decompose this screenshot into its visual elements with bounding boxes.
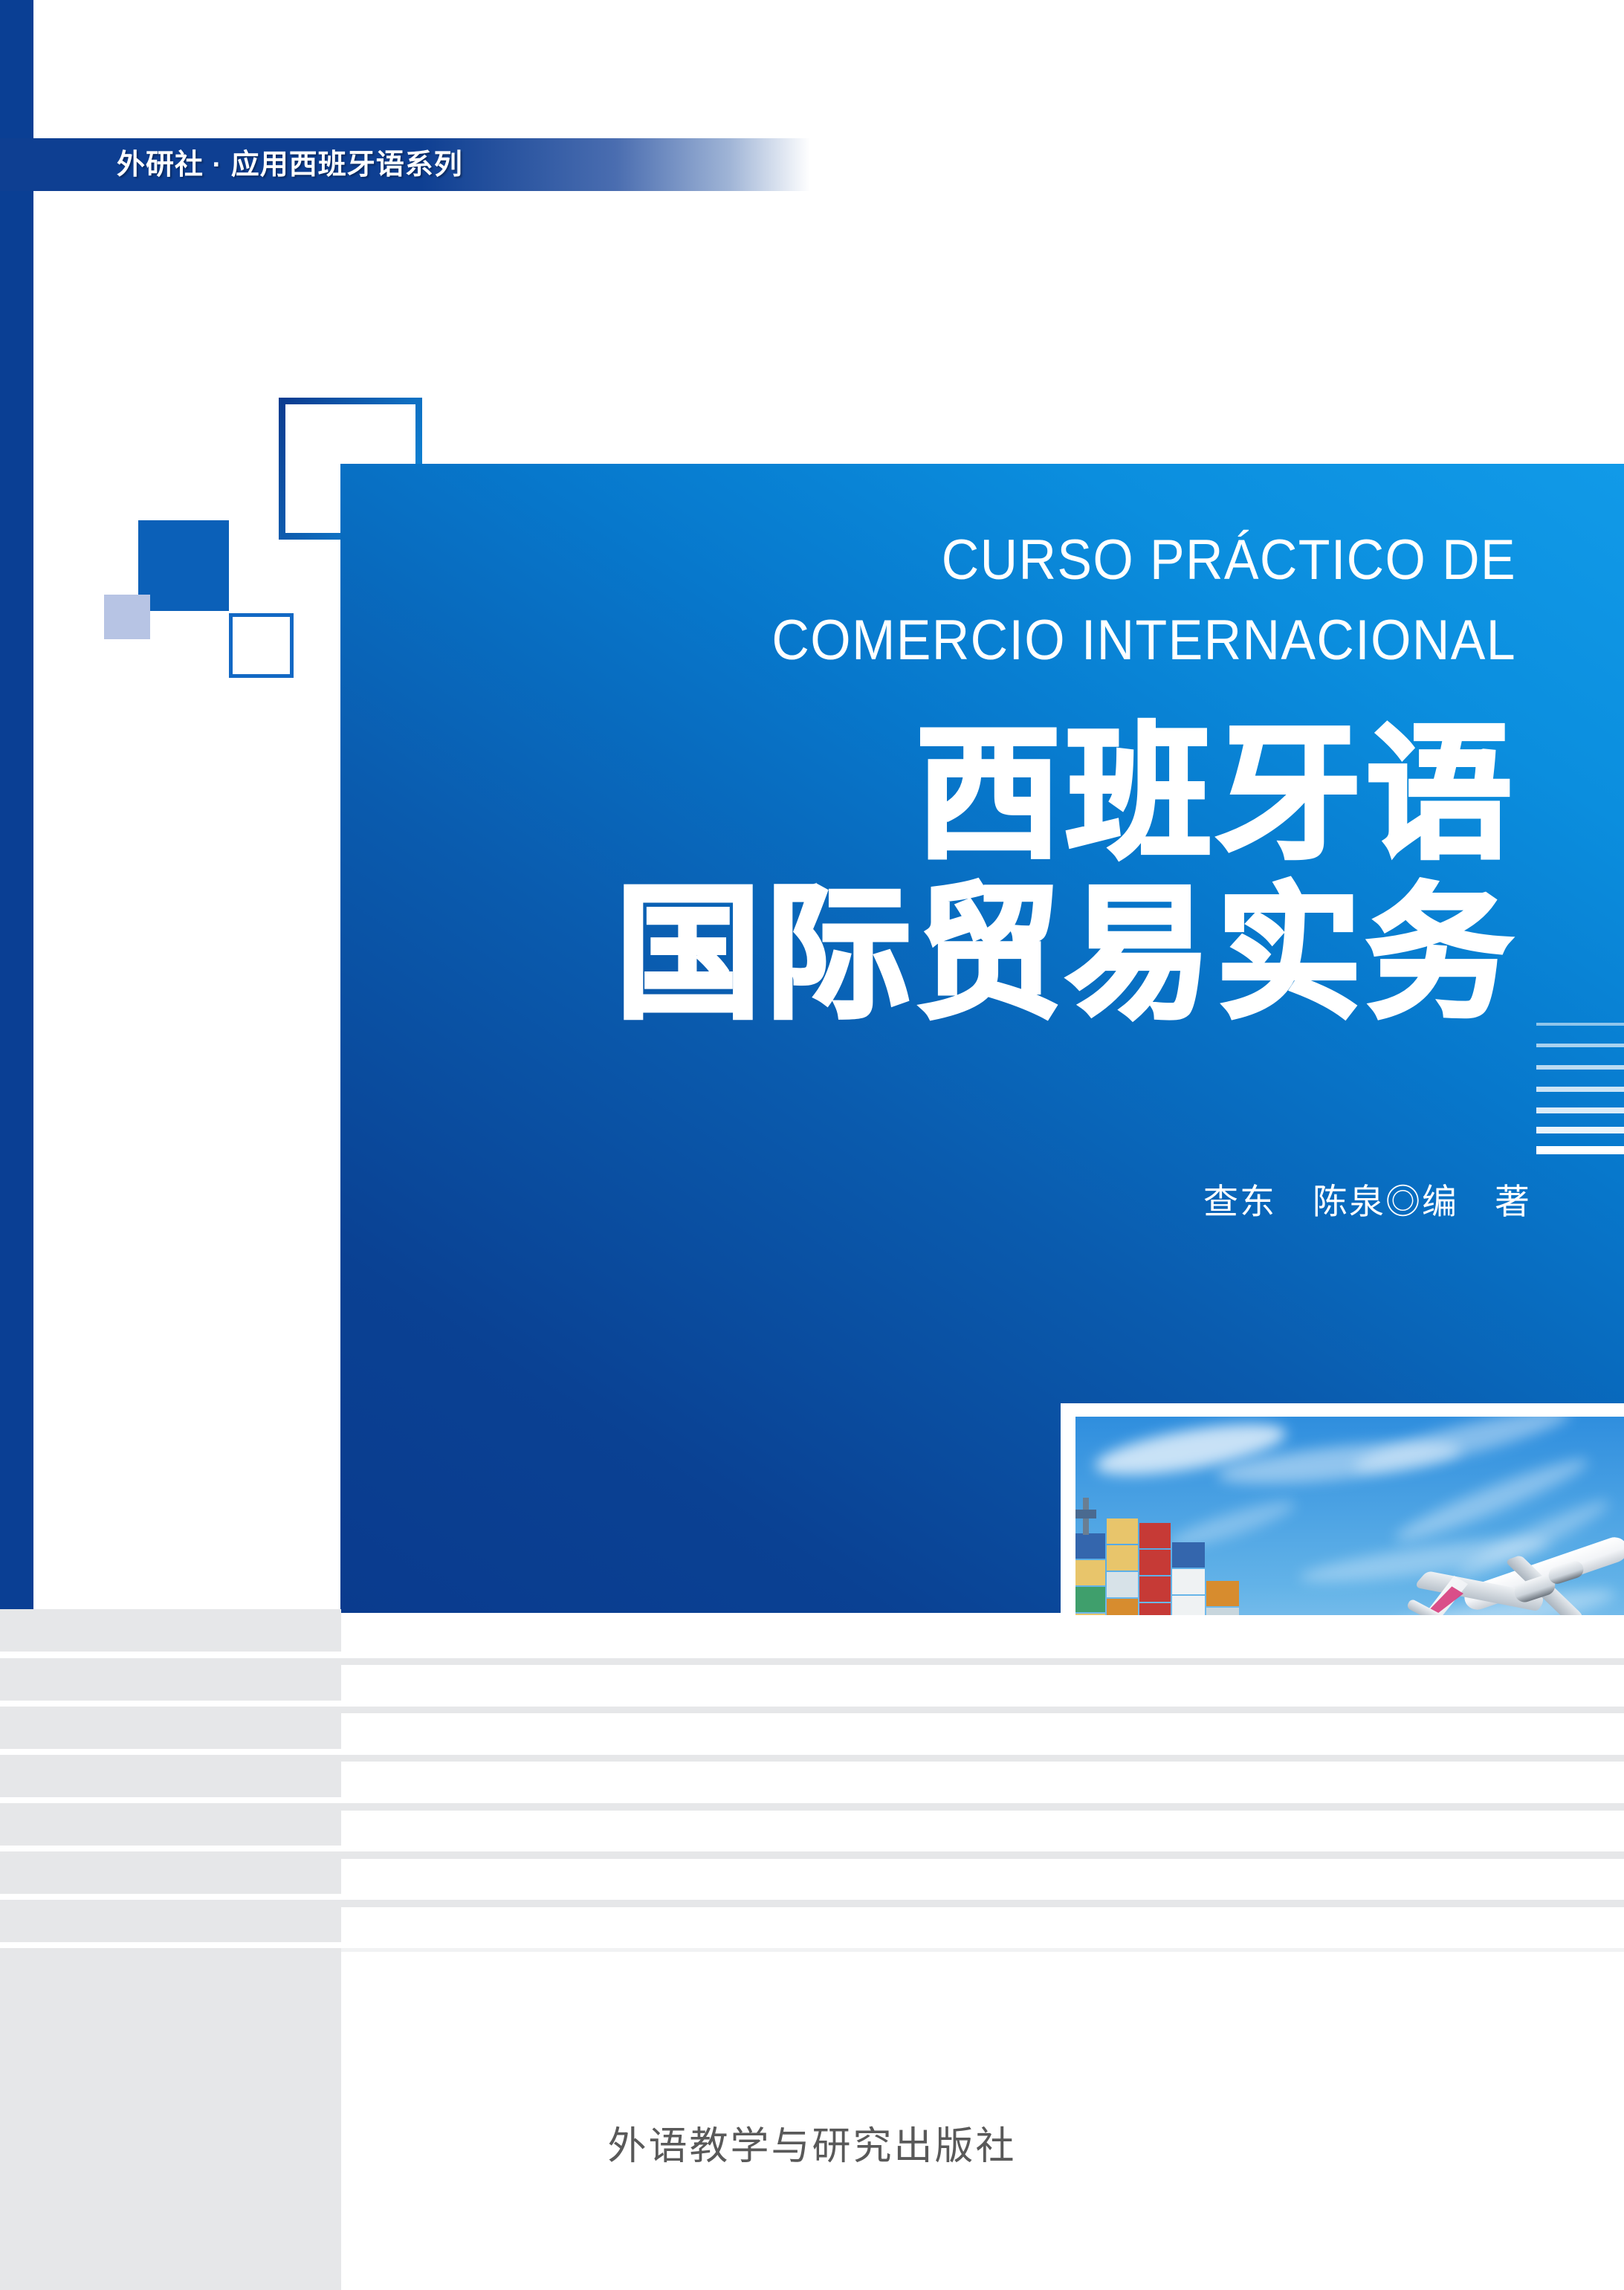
publisher-name: 外语教学与研究出版社 — [0, 2115, 1624, 2170]
bottom-stripes-left — [0, 1609, 341, 2290]
bottom-stripes-right — [341, 1615, 1624, 2290]
spanish-title-line-2: COMERCIO INTERNACIONAL — [504, 601, 1516, 681]
chinese-title-line-1: 西班牙语 — [327, 715, 1516, 875]
chinese-title: 西班牙语 国际贸易实务 — [327, 715, 1516, 1035]
book-cover: 外研社 · 应用西班牙语系列 CURSO PRÁCTICO DE COMERCI… — [0, 0, 1624, 2290]
author-line: 查东 陈泉◎编 著 — [743, 1173, 1531, 1224]
spanish-title: CURSO PRÁCTICO DE COMERCIO INTERNACIONAL — [504, 520, 1516, 681]
decor-square-solid-pale — [104, 595, 150, 639]
spanish-title-line-1: CURSO PRÁCTICO DE — [504, 520, 1516, 601]
left-accent-bar — [0, 0, 33, 1609]
chinese-title-line-2: 国际贸易实务 — [327, 875, 1516, 1035]
decor-edge-lines — [1536, 1023, 1624, 1149]
decor-square-outline-small — [229, 613, 294, 678]
decor-square-solid-blue — [138, 520, 229, 611]
series-label: 外研社 · 应用西班牙语系列 — [117, 143, 463, 187]
